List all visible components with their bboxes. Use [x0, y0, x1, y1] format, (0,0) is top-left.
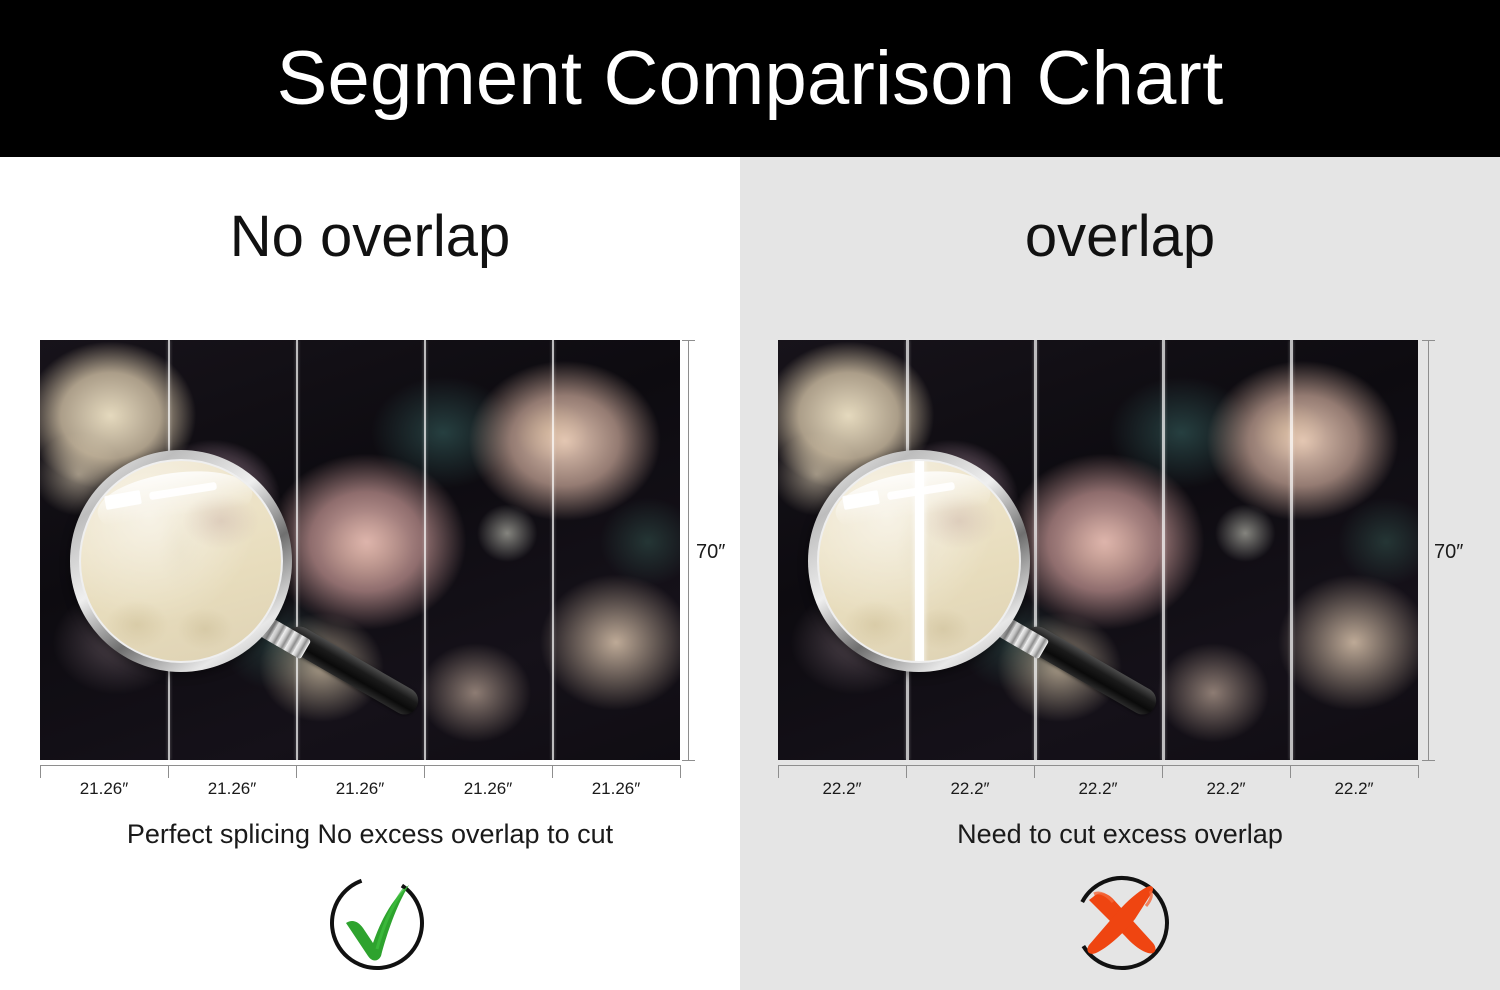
- width-dimension-line-left: [40, 765, 680, 766]
- width-tick-5-left: [680, 765, 681, 778]
- seam-line-3: [424, 340, 426, 760]
- panel-heading-no-overlap: No overlap: [0, 203, 740, 270]
- panel-no-overlap: No overlap: [0, 157, 740, 990]
- width-tick-5-right: [1418, 765, 1419, 778]
- seam-line-overlap-2: [1034, 340, 1037, 760]
- height-label-left: 70″: [696, 541, 725, 564]
- segment-label-right-5: 22.2″: [1290, 779, 1418, 799]
- height-dimension-tick-top-right: [1422, 340, 1435, 341]
- check-icon: [322, 867, 432, 977]
- height-dimension-line-right: [1428, 340, 1429, 760]
- width-dimension-line-right: [778, 765, 1418, 766]
- mural-image-overlap: [778, 340, 1418, 760]
- segment-label-right-3: 22.2″: [1034, 779, 1162, 799]
- height-label-right: 70″: [1434, 541, 1463, 564]
- width-tick-2-left: [296, 765, 297, 778]
- infographic-root: Segment Comparison Chart No overlap: [0, 0, 1500, 990]
- page-title: Segment Comparison Chart: [277, 41, 1224, 117]
- panel-overlap: overlap: [740, 157, 1500, 990]
- seam-line-2: [296, 340, 298, 760]
- seam-line-overlap-1: [906, 340, 909, 760]
- width-tick-2-right: [1034, 765, 1035, 778]
- width-tick-1-left: [168, 765, 169, 778]
- segment-label-right-1: 22.2″: [778, 779, 906, 799]
- seam-line-overlap-3: [1162, 340, 1165, 760]
- segment-label-left-3: 21.26″: [296, 779, 424, 799]
- mural-image-no-overlap: [40, 340, 680, 760]
- seam-line-1: [168, 340, 170, 760]
- segment-label-left-4: 21.26″: [424, 779, 552, 799]
- segment-label-left-5: 21.26″: [552, 779, 680, 799]
- width-tick-4-right: [1290, 765, 1291, 778]
- height-dimension-tick-bottom-left: [682, 760, 695, 761]
- panel-heading-overlap: overlap: [740, 203, 1500, 270]
- width-tick-3-right: [1162, 765, 1163, 778]
- title-banner: Segment Comparison Chart: [0, 0, 1500, 157]
- mural-no-overlap: [40, 340, 680, 760]
- status-badge-overlap: [1067, 867, 1177, 977]
- segment-label-left-2: 21.26″: [168, 779, 296, 799]
- segment-label-right-2: 22.2″: [906, 779, 1034, 799]
- segment-label-right-4: 22.2″: [1162, 779, 1290, 799]
- height-dimension-line-left: [688, 340, 689, 760]
- cross-icon: [1067, 867, 1177, 977]
- height-dimension-tick-top-left: [682, 340, 695, 341]
- seam-line-4: [552, 340, 554, 760]
- width-tick-3-left: [424, 765, 425, 778]
- caption-no-overlap: Perfect splicing No excess overlap to cu…: [0, 819, 740, 850]
- mural-overlap: [778, 340, 1418, 760]
- height-dimension-tick-bottom-right: [1422, 760, 1435, 761]
- width-tick-0-left: [40, 765, 41, 778]
- width-tick-4-left: [552, 765, 553, 778]
- caption-overlap: Need to cut excess overlap: [740, 819, 1500, 850]
- width-tick-1-right: [906, 765, 907, 778]
- segment-label-left-1: 21.26″: [40, 779, 168, 799]
- status-badge-no-overlap: [322, 867, 432, 977]
- seam-line-overlap-4: [1290, 340, 1293, 760]
- width-tick-0-right: [778, 765, 779, 778]
